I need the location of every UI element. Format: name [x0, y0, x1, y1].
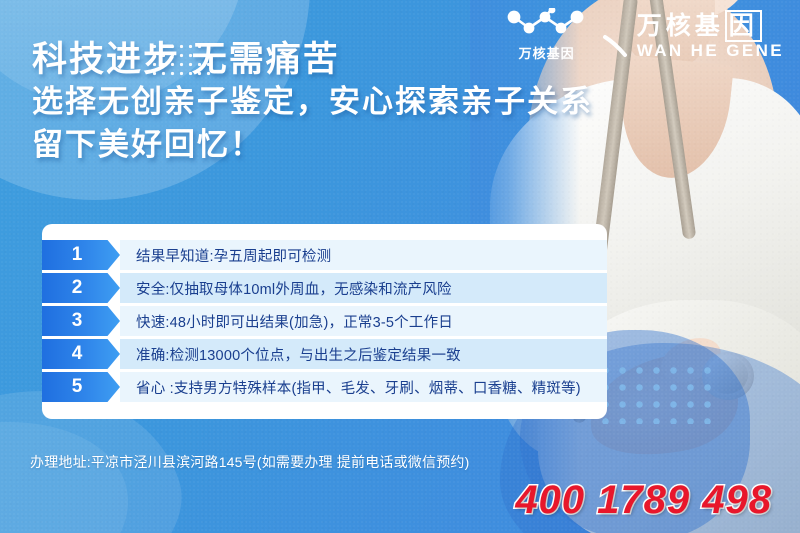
feature-text: 结果早知道:孕五周起即可检测	[120, 240, 607, 270]
feature-number-badge: 4	[42, 339, 120, 369]
headline-line-2: 选择无创亲子鉴定，安心探索亲子关系	[32, 85, 593, 120]
feature-number-badge: 3	[42, 306, 120, 336]
logo-name-cn-main: 万核基	[637, 12, 724, 40]
feature-number-badge: 1	[42, 240, 120, 270]
hotline-phone-number: 400 1789 498	[515, 478, 772, 523]
features-list: 1结果早知道:孕五周起即可检测2安全:仅抽取母体10ml外周血，无感染和流产风险…	[42, 240, 607, 405]
feature-text: 快速:48小时即可出结果(加急)，正常3-5个工作日	[120, 306, 607, 336]
feature-number-badge: 2	[42, 273, 120, 303]
molecule-icon	[503, 8, 591, 42]
logo-swoosh-icon	[603, 34, 629, 65]
feature-row: 5省心 :支持男方特殊样本(指甲、毛发、牙刷、烟蒂、口香糖、精斑等)	[42, 372, 607, 402]
feature-text: 省心 :支持男方特殊样本(指甲、毛发、牙刷、烟蒂、口香糖、精斑等)	[120, 372, 607, 402]
logo-name-cn: 万核基因	[637, 12, 762, 41]
decor-dot-grid	[597, 362, 715, 424]
logo-name-en: WAN HE GENE	[637, 42, 784, 61]
office-address: 办理地址:平凉市泾川县滨河路145号(如需要办理 提前电话或微信预约)	[30, 452, 469, 472]
features-card: 1结果早知道:孕五周起即可检测2安全:仅抽取母体10ml外周血，无感染和流产风险…	[42, 224, 607, 419]
logo-wordmark: 万核基因 WAN HE GENE	[637, 8, 784, 60]
feature-row: 4准确:检测13000个位点，与出生之后鉴定结果一致	[42, 339, 607, 369]
brand-logo: 万核基因 万核基因 WAN HE GENE	[499, 8, 784, 65]
headline-line-1-text: 科技进步 无需痛苦	[32, 40, 340, 79]
logo-mark: 万核基因	[499, 8, 595, 62]
feature-text: 准确:检测13000个位点，与出生之后鉴定结果一致	[120, 339, 607, 369]
headline-line-3: 留下美好回忆！	[32, 128, 593, 163]
logo-name-cn-boxed: 因	[725, 10, 762, 42]
logo-mark-label: 万核基因	[519, 43, 575, 62]
feature-row: 1结果早知道:孕五周起即可检测	[42, 240, 607, 270]
feature-number-badge: 5	[42, 372, 120, 402]
promo-poster: 万核基因 万核基因 WAN HE GENE 科技进步 无需痛苦 选择无创亲子鉴定…	[0, 0, 800, 533]
feature-text: 安全:仅抽取母体10ml外周血，无感染和流产风险	[120, 273, 607, 303]
feature-row: 2安全:仅抽取母体10ml外周血，无感染和流产风险	[42, 273, 607, 303]
feature-row: 3快速:48小时即可出结果(加急)，正常3-5个工作日	[42, 306, 607, 336]
